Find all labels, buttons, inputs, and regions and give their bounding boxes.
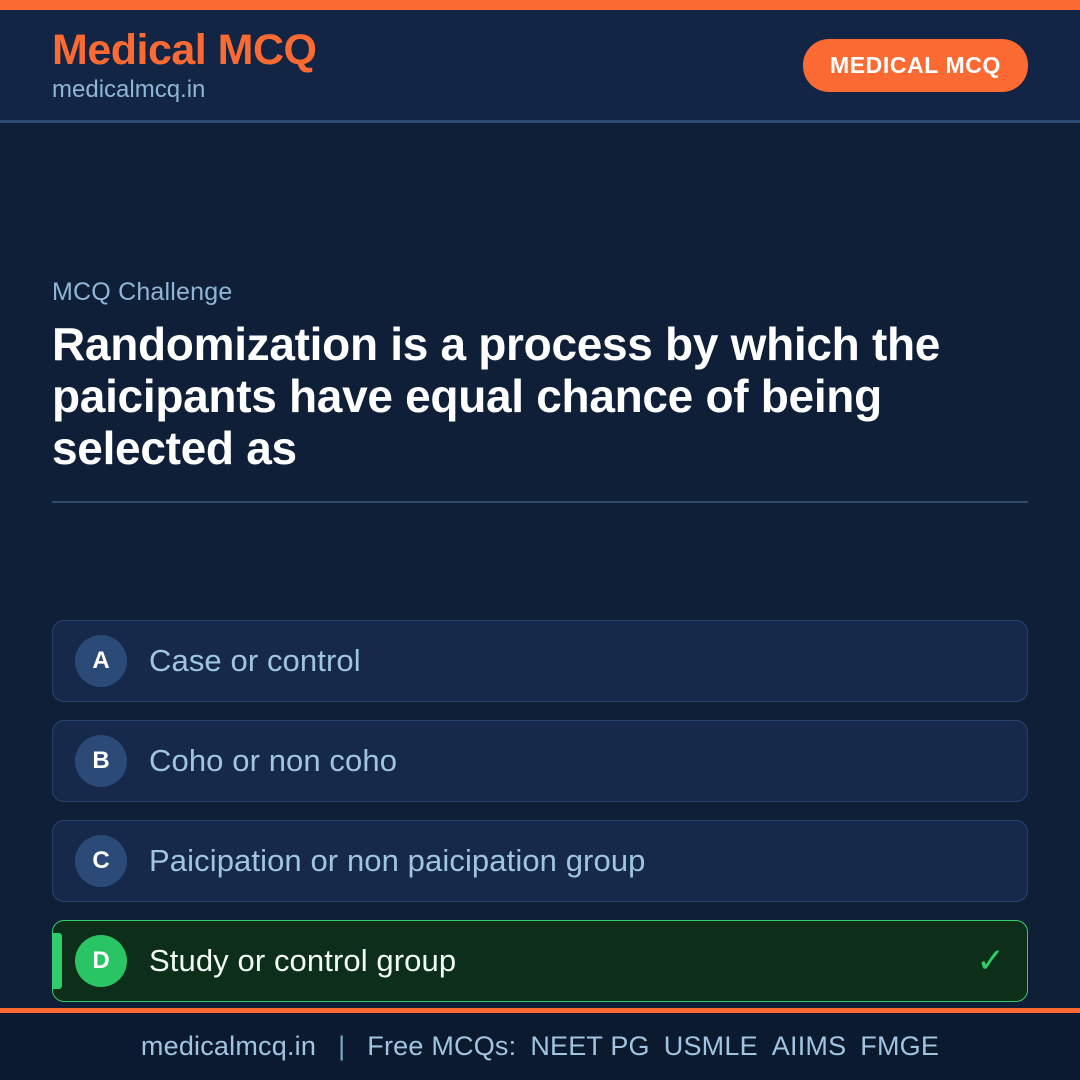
brand-subtitle: medicalmcq.in <box>52 78 317 102</box>
option-letter-d: D <box>75 935 127 987</box>
question-text: Randomization is a process by which the … <box>52 319 1028 475</box>
option-text-d: Study or control group <box>149 943 456 979</box>
header-badge: MEDICAL MCQ <box>803 39 1028 92</box>
option-row-b[interactable]: B Coho or non coho <box>52 720 1028 802</box>
footer-tag-neet-pg: NEET PG <box>530 1031 649 1062</box>
brand: Medical MCQ medicalmcq.in <box>52 29 317 102</box>
option-text-a: Case or control <box>149 643 361 679</box>
footer-site: medicalmcq.in <box>141 1031 316 1062</box>
option-letter-b: B <box>75 735 127 787</box>
page-footer: medicalmcq.in | Free MCQs: NEET PG USMLE… <box>0 1008 1080 1080</box>
top-accent-bar <box>0 0 1080 10</box>
option-letter-c: C <box>75 835 127 887</box>
question-divider <box>52 501 1028 503</box>
footer-tag-fmge: FMGE <box>860 1031 939 1062</box>
footer-separator: | <box>338 1031 345 1062</box>
correct-check-icon: ✓ <box>977 941 1006 981</box>
question-block: MCQ Challenge Randomization is a process… <box>52 278 1028 503</box>
footer-line: medicalmcq.in | Free MCQs: NEET PG USMLE… <box>141 1031 939 1062</box>
option-letter-a: A <box>75 635 127 687</box>
footer-label: Free MCQs: <box>367 1031 516 1062</box>
question-kicker: MCQ Challenge <box>52 278 1028 307</box>
options-list: A Case or control B Coho or non coho C P… <box>52 620 1028 1002</box>
footer-tag-aiims: AIIMS <box>772 1031 847 1062</box>
option-text-b: Coho or non coho <box>149 743 397 779</box>
footer-tag-usmle: USMLE <box>664 1031 758 1062</box>
option-row-d[interactable]: D Study or control group ✓ <box>52 920 1028 1002</box>
option-row-a[interactable]: A Case or control <box>52 620 1028 702</box>
option-row-c[interactable]: C Paicipation or non paicipation group <box>52 820 1028 902</box>
main-content: MCQ Challenge Randomization is a process… <box>0 123 1080 1008</box>
brand-title: Medical MCQ <box>52 29 317 72</box>
mcq-card: Medical MCQ medicalmcq.in MEDICAL MCQ MC… <box>0 0 1080 1080</box>
option-text-c: Paicipation or non paicipation group <box>149 843 646 879</box>
page-header: Medical MCQ medicalmcq.in MEDICAL MCQ <box>0 10 1080 123</box>
